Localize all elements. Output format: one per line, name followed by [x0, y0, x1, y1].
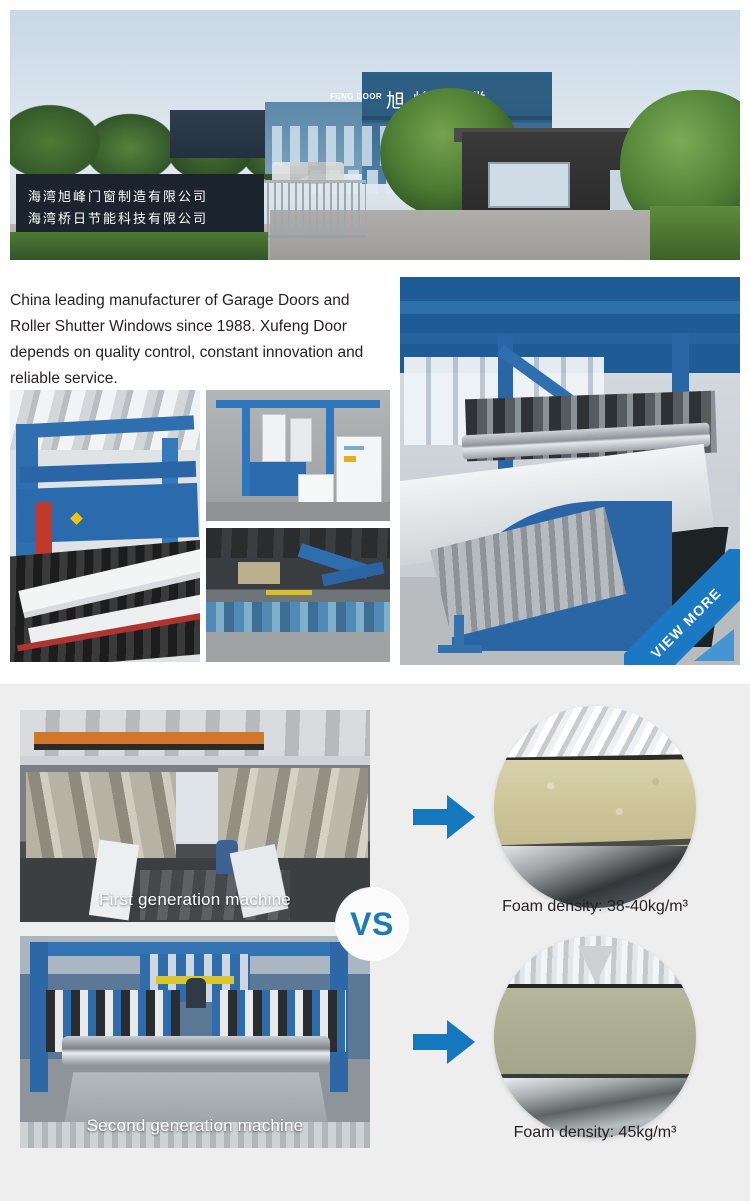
- gallery-image-conveyor: [10, 390, 200, 662]
- company-intro-text: China leading manufacturer of Garage Doo…: [10, 288, 390, 392]
- cabinet-display: [344, 446, 364, 450]
- blue-pipe-top: [216, 400, 380, 408]
- foam-core-beige: [494, 760, 696, 846]
- gallery-image-dosing-skid: [206, 390, 390, 521]
- foam-cross-section-bottom: [494, 936, 696, 1138]
- skin-notch: [578, 946, 614, 984]
- factory-sign-latin: FENG DOOR: [330, 92, 382, 101]
- first-generation-caption: First generation machine: [20, 890, 370, 910]
- first-generation-machine-photo: First generation machine: [20, 710, 370, 922]
- cabinet-indicator: [344, 456, 356, 462]
- foam-core-grey-green: [494, 988, 696, 1076]
- foam-density-label-top: Foam density: 38-40kg/m³: [445, 898, 745, 916]
- company-intro: China leading manufacturer of Garage Doo…: [10, 288, 390, 392]
- hedge-row: [10, 232, 268, 260]
- ceiling-beam-2: [400, 333, 740, 344]
- wall-text-line-1: 海湾旭峰门窗制造有限公司: [28, 186, 208, 205]
- doorway-light: [238, 562, 280, 584]
- support-stand-foot: [438, 645, 482, 653]
- yellow-handrail: [266, 590, 312, 595]
- blue-pipe-left: [242, 400, 250, 496]
- vs-label: VS: [350, 908, 394, 940]
- hero-factory-photo: FENG DOOR 旭峰門業 海湾旭峰门窗制造有限公司 海湾桥日节能科技有限公司: [10, 10, 740, 260]
- white-tank-2: [290, 418, 312, 462]
- arrow-right-icon-bottom: [413, 1020, 475, 1064]
- sliding-gate: [260, 180, 366, 238]
- main-roller-shaft: [62, 1036, 330, 1066]
- grass-verge: [650, 206, 740, 260]
- worker-figure: [186, 978, 206, 1008]
- second-generation-caption: Second generation machine: [20, 1116, 370, 1136]
- gatehouse-window: [488, 162, 570, 208]
- white-tank-1: [262, 414, 286, 462]
- workshop-floor: [206, 632, 390, 662]
- arrow-right-icon-top: [413, 795, 475, 839]
- second-generation-machine-photo: Second generation machine: [20, 936, 370, 1148]
- wall-text-line-2: 海湾桥日节能科技有限公司: [28, 208, 208, 227]
- foam-cross-section-top: [494, 706, 696, 908]
- page-root: FENG DOOR 旭峰門業 海湾旭峰门窗制造有限公司 海湾桥日节能科技有限公司…: [0, 0, 750, 1201]
- orange-crane-beam: [34, 732, 264, 744]
- gallery-image-production-line: VIEW MORE: [400, 277, 740, 665]
- gallery-image-workshop: [206, 528, 390, 662]
- ceiling-beam-1: [400, 301, 740, 314]
- vs-badge: VS: [336, 888, 408, 960]
- crane-rail: [34, 744, 264, 750]
- foam-density-label-bottom: Foam density: 45kg/m³: [445, 1124, 745, 1142]
- skid-floor: [206, 502, 390, 521]
